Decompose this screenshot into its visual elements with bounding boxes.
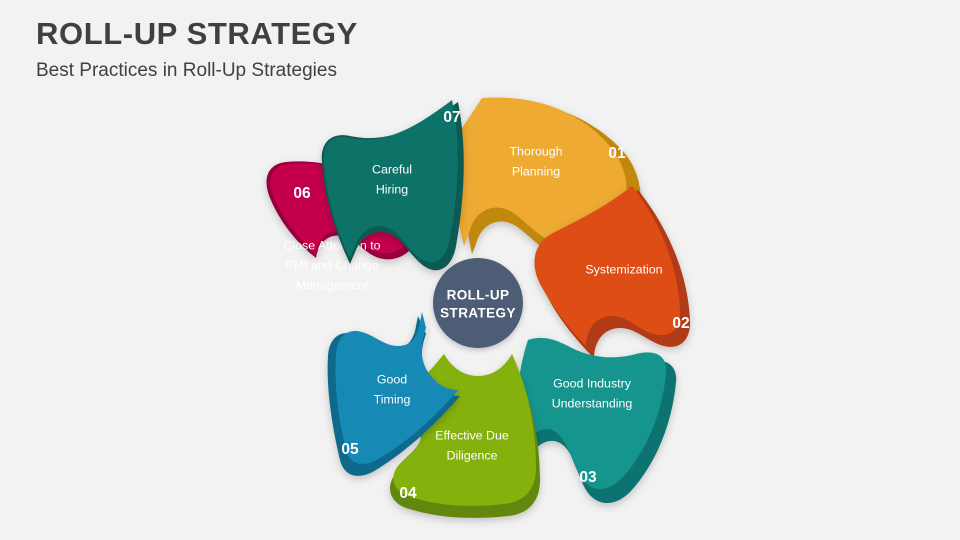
petal-06-label-line2: PMI and Change [286, 258, 379, 272]
center-hub-line1: ROLL-UP [447, 288, 510, 303]
petal-02-number: 02 [672, 315, 689, 332]
petal-03-label-line1: Good Industry [553, 376, 632, 390]
petal-07-label-line1: Careful [372, 162, 412, 176]
petal-03-label-line2: Understanding [552, 396, 633, 410]
petal-01-label-line1: Thorough [509, 144, 562, 158]
petal-07-label-line2: Hiring [376, 182, 408, 196]
petal-05-label-line1: Good [377, 372, 407, 386]
petal-02-label-line1: Systemization [585, 262, 662, 276]
petal-01-label-line2: Planning [512, 164, 560, 178]
petal-06-label-line3: Management [296, 278, 369, 292]
petal-03[interactable]: Good Industry Understanding 03 [517, 338, 676, 503]
petal-01-number: 01 [608, 145, 626, 162]
petal-wheel-diagram: Thorough Planning 01 Systemization 02 [240, 78, 720, 540]
center-hub-line2: STRATEGY [440, 306, 516, 321]
petal-04-number: 04 [399, 485, 417, 502]
petal-06-label-line1: Close Attention to [283, 238, 380, 252]
petal-04-label-line1: Effective Due [435, 428, 509, 442]
center-hub-circle [433, 258, 523, 348]
petal-04-label-line2: Diligence [447, 448, 498, 462]
petal-05-label-line2: Timing [374, 392, 411, 406]
page-title: ROLL-UP STRATEGY [36, 16, 358, 52]
petal-06-number: 06 [293, 185, 311, 202]
slide-canvas: ROLL-UP STRATEGY Best Practices in Roll-… [0, 0, 960, 540]
center-hub[interactable]: ROLL-UP STRATEGY [433, 258, 523, 348]
petal-03-number: 03 [579, 469, 597, 486]
petal-05-number: 05 [341, 441, 359, 458]
petal-07-number: 07 [443, 109, 460, 126]
